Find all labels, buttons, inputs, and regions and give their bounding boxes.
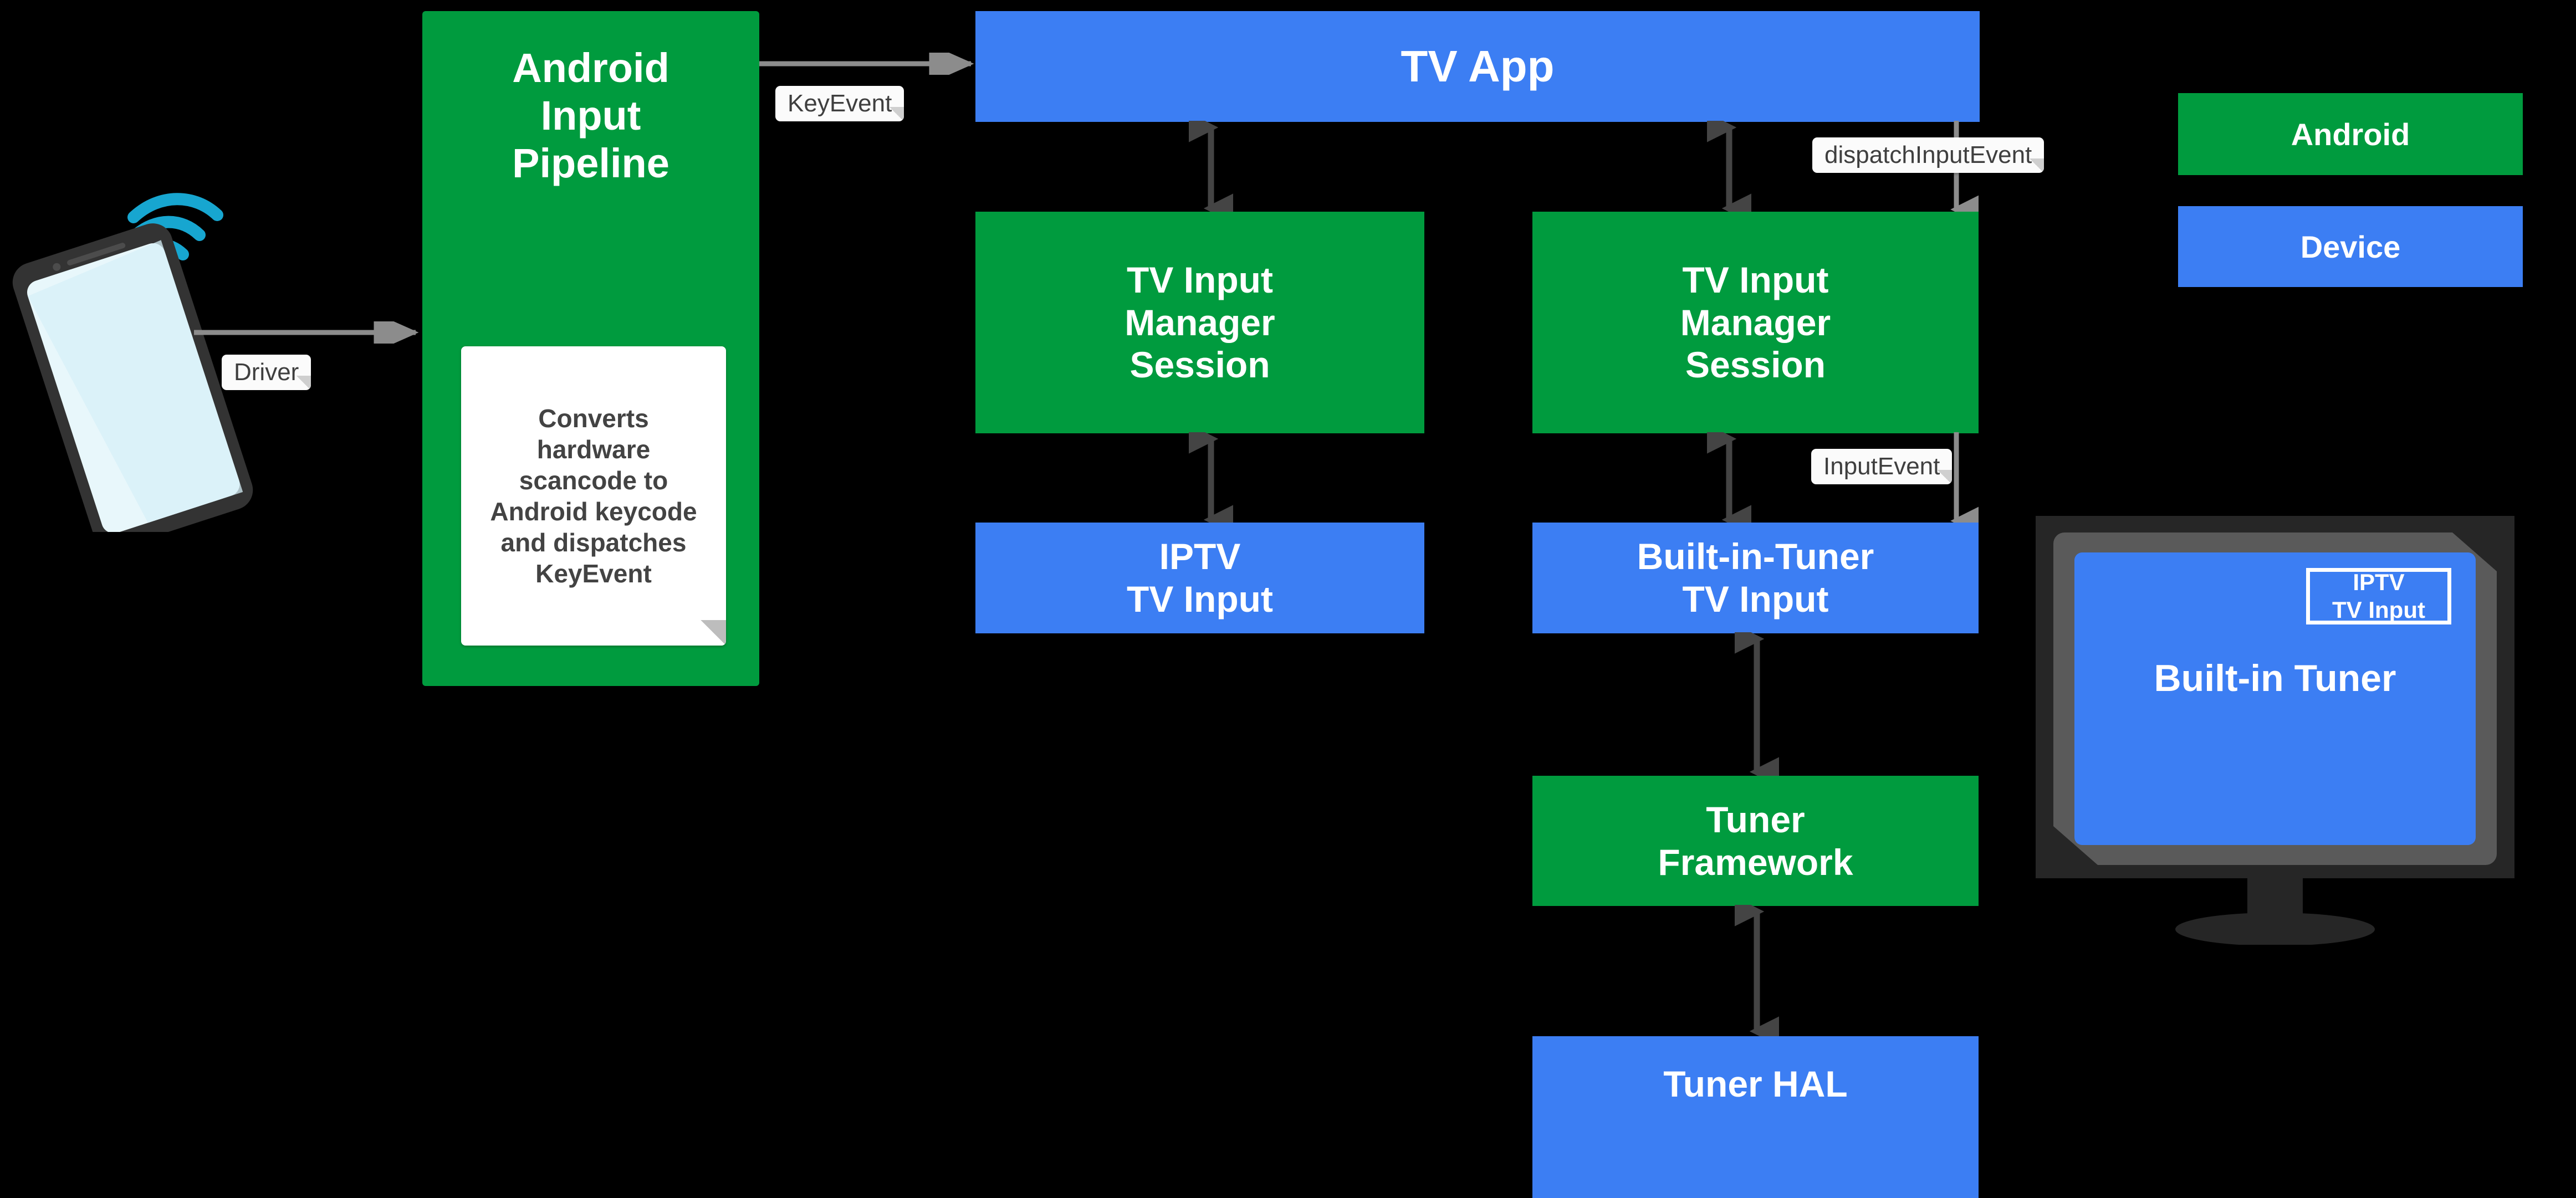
- tv-screen-title-text: Built-in Tuner: [2154, 657, 2396, 699]
- label-fold-corner: [297, 376, 311, 390]
- tvapp-to-right-session-connector: [1707, 121, 1751, 215]
- tv-screen-badge-iptv-tv-input: IPTV TV Input: [2306, 568, 2451, 624]
- edge-label-dispatch-input-event-text: dispatchInputEvent: [1824, 141, 2032, 169]
- node-tv-app-label: TV App: [1401, 41, 1555, 93]
- keyevent-connector: [759, 53, 981, 75]
- edge-label-driver-text: Driver: [234, 359, 299, 386]
- node-tv-app[interactable]: TV App: [975, 11, 1980, 122]
- node-builtin-tuner-tv-input-label: Built-in-Tuner TV Input: [1637, 535, 1874, 620]
- node-tv-input-manager-session-right-label: TV Input Manager Session: [1680, 259, 1831, 386]
- driver-connector: [194, 321, 427, 344]
- node-tv-input-manager-session-left-label: TV Input Manager Session: [1125, 259, 1275, 386]
- note-fold-corner: [701, 620, 726, 646]
- legend-item-android: Android: [2178, 93, 2523, 175]
- label-fold-corner: [2030, 158, 2044, 173]
- edge-label-input-event-text: InputEvent: [1823, 453, 1940, 480]
- framework-to-hal-connector: [1735, 905, 1779, 1038]
- node-builtin-tuner-tv-input[interactable]: Built-in-Tuner TV Input: [1532, 523, 1979, 633]
- tv-screen-title: Built-in Tuner: [2074, 657, 2476, 700]
- diagram-canvas: Driver Android Input Pipeline Converts h…: [0, 0, 2576, 1198]
- tvapp-to-left-session-connector: [1189, 121, 1233, 215]
- node-tuner-hal-label: Tuner HAL: [1663, 1063, 1847, 1105]
- node-tuner-hal[interactable]: Tuner HAL: [1532, 1036, 1979, 1198]
- legend-item-android-label: Android: [2291, 116, 2410, 152]
- label-fold-corner: [1938, 470, 1952, 484]
- tv-screen-badge-text: IPTV TV Input: [2332, 569, 2425, 623]
- node-tuner-framework-label: Tuner Framework: [1658, 798, 1853, 883]
- right-session-to-builtin-tuner-connector: [1707, 432, 1751, 526]
- tv-screen: IPTV TV Input Built-in Tuner: [2074, 552, 2476, 845]
- edge-label-keyevent: KeyEvent: [775, 86, 904, 121]
- node-iptv-tv-input[interactable]: IPTV TV Input: [975, 523, 1424, 633]
- pipeline-note-text: Converts hardware scancode to Android ke…: [490, 403, 697, 590]
- legend-item-device: Device: [2178, 206, 2523, 287]
- legend-item-device-label: Device: [2301, 229, 2401, 265]
- node-tv-input-manager-session-left[interactable]: TV Input Manager Session: [975, 212, 1424, 433]
- left-session-to-iptv-connector: [1189, 432, 1233, 526]
- node-android-input-pipeline-label: Android Input Pipeline: [512, 44, 669, 187]
- node-tuner-framework[interactable]: Tuner Framework: [1532, 776, 1979, 906]
- label-fold-corner: [890, 107, 904, 121]
- phone-body: [7, 218, 258, 532]
- node-iptv-tv-input-label: IPTV TV Input: [1127, 535, 1273, 620]
- edge-label-dispatch-input-event: dispatchInputEvent: [1812, 137, 2044, 173]
- edge-label-driver: Driver: [222, 355, 311, 390]
- pipeline-note-card: Converts hardware scancode to Android ke…: [461, 346, 726, 646]
- edge-label-keyevent-text: KeyEvent: [788, 90, 892, 117]
- node-tv-input-manager-session-right[interactable]: TV Input Manager Session: [1532, 212, 1979, 433]
- tv-monitor-illustration: IPTV TV Input Built-in Tuner: [2026, 513, 2524, 945]
- builtin-tuner-to-framework-connector: [1735, 632, 1779, 779]
- edge-label-input-event: InputEvent: [1811, 449, 1952, 484]
